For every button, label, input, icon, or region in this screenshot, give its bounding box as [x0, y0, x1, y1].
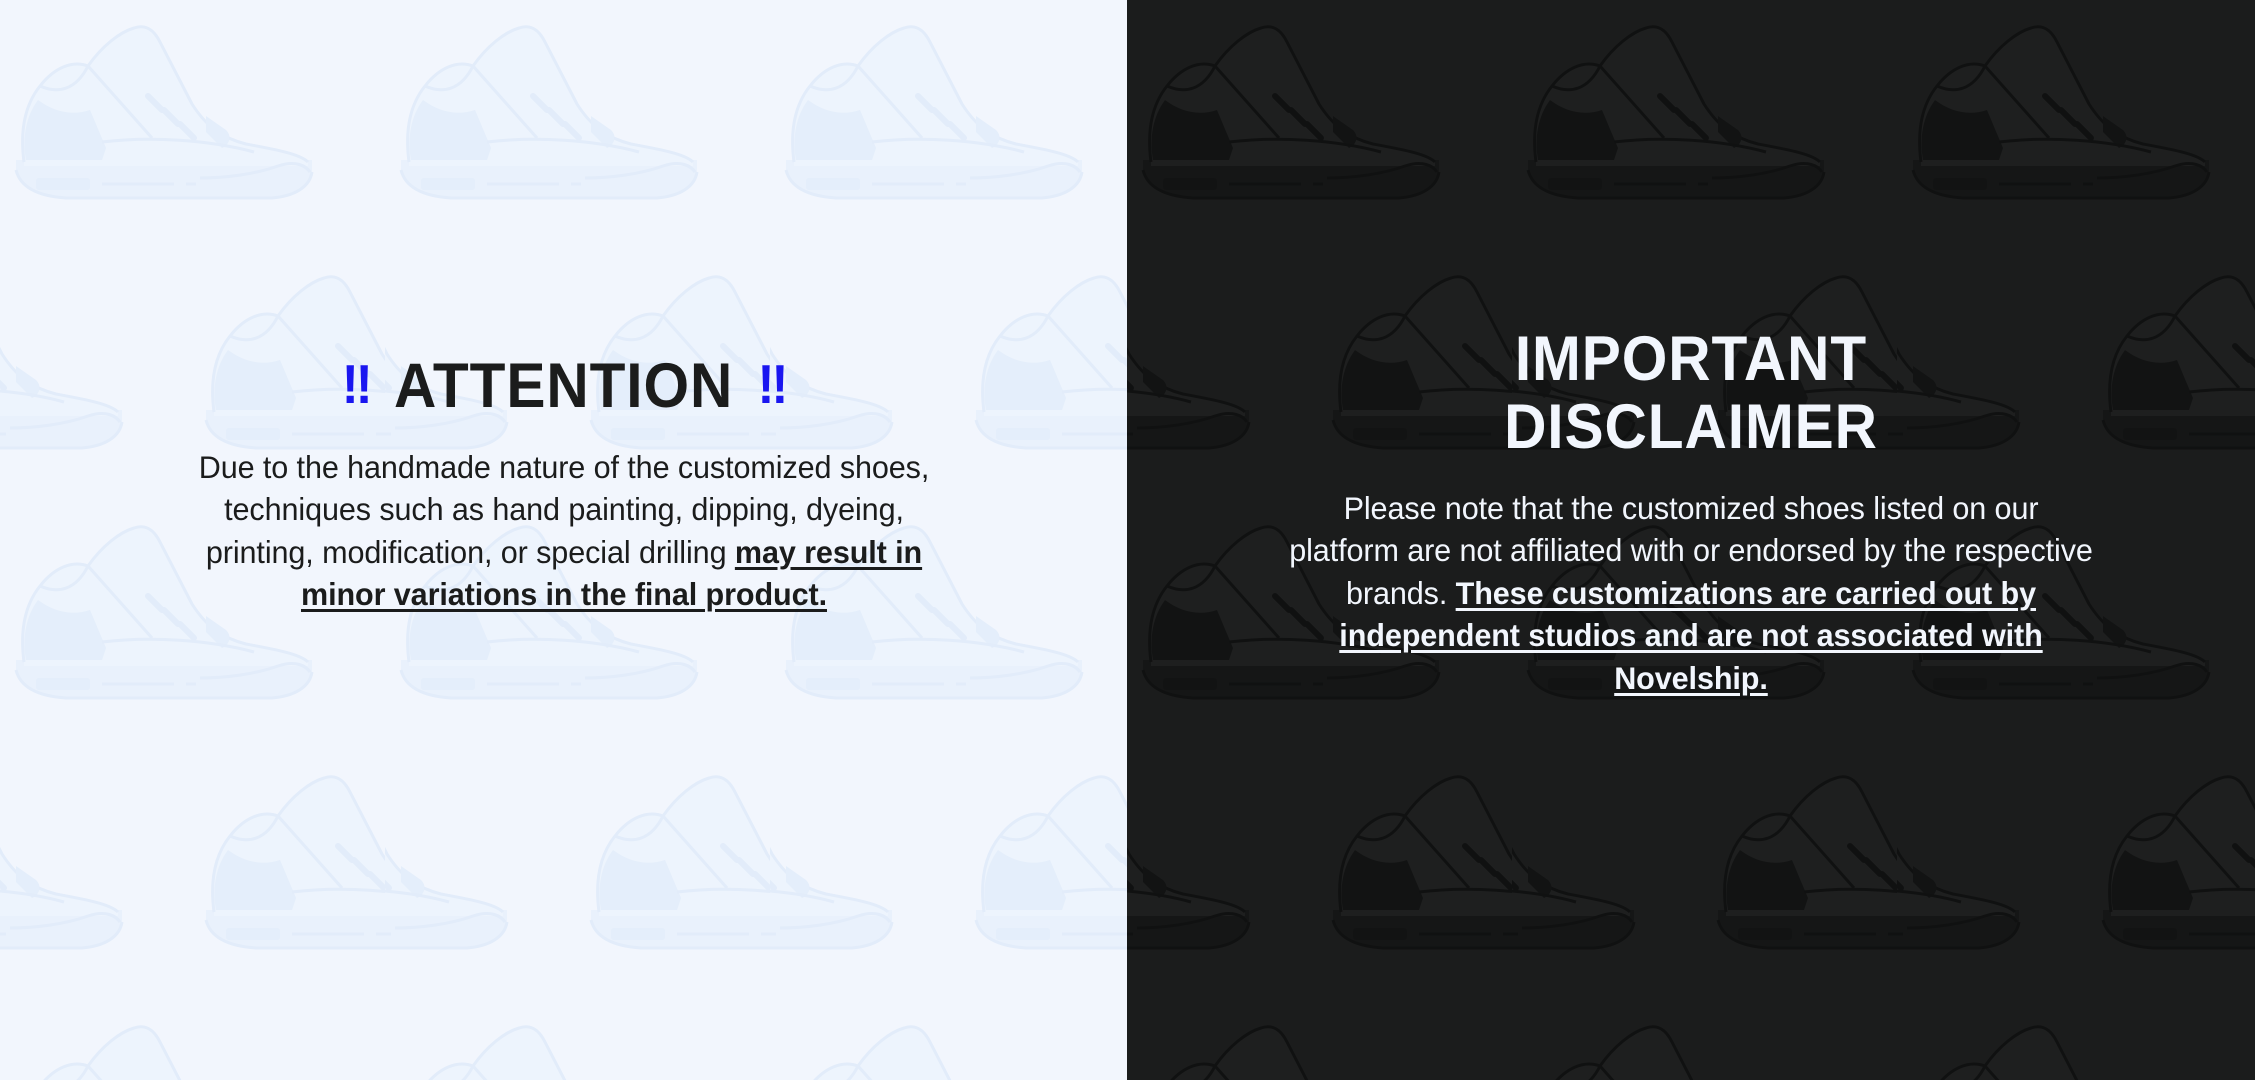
attention-content: ‼ ATTENTION ‼ Due to the handmade nature… [0, 0, 1127, 1080]
disclaimer-heading-line-2: DISCLAIMER [1504, 392, 1878, 462]
disclaimer-body: Please note that the customized shoes li… [1288, 487, 2093, 699]
attention-disclaimer-banner: ‼ ATTENTION ‼ Due to the handmade nature… [0, 0, 2255, 1080]
attention-body: Due to the handmade nature of the custom… [180, 446, 946, 615]
attention-panel: ‼ ATTENTION ‼ Due to the handmade nature… [0, 0, 1127, 1080]
disclaimer-heading: IMPORTANT DISCLAIMER [1504, 325, 1878, 461]
disclaimer-heading-line-1: IMPORTANT [1515, 324, 1867, 394]
attention-heading-text: ATTENTION [394, 355, 733, 418]
double-exclamation-icon-left: ‼ [342, 357, 370, 412]
disclaimer-content: IMPORTANT DISCLAIMER Please note that th… [1127, 0, 2255, 1080]
attention-heading: ‼ ATTENTION ‼ [342, 355, 786, 418]
double-exclamation-icon-right: ‼ [757, 357, 785, 412]
disclaimer-panel: IMPORTANT DISCLAIMER Please note that th… [1127, 0, 2255, 1080]
